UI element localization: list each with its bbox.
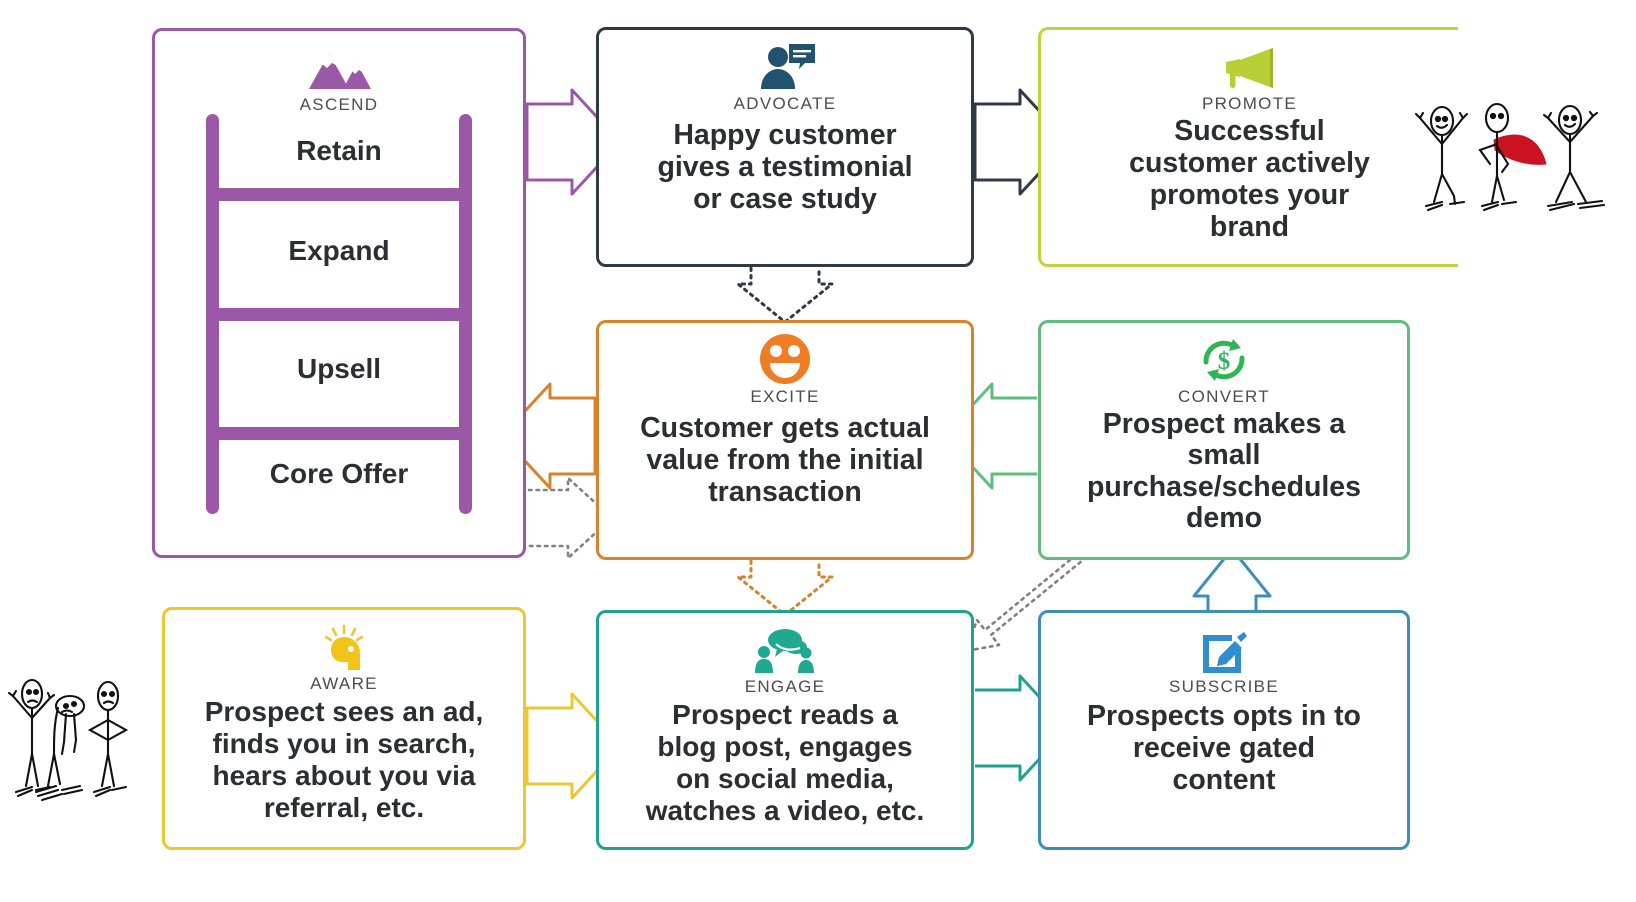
stage-label-promote: PROMOTE <box>1202 94 1297 114</box>
megaphone-icon <box>1218 30 1282 92</box>
node-aware-text: Prospect sees an ad, finds you in search… <box>195 696 494 824</box>
arrow-excite-to-engage <box>738 561 832 615</box>
stage-label-advocate: ADVOCATE <box>734 94 837 114</box>
arrow-advocate-to-excite <box>738 268 832 322</box>
svg-text:$: $ <box>1218 348 1231 375</box>
stage-label-engage: ENGAGE <box>745 677 826 697</box>
aware-stick-figures <box>4 668 152 828</box>
node-convert[interactable]: $ CONVERT Prospect makes a small purchas… <box>1038 320 1410 560</box>
node-subscribe[interactable]: SUBSCRIBE Prospects opts in to receive g… <box>1038 610 1410 850</box>
mountains-icon <box>305 31 373 93</box>
promote-stick-figures <box>1398 92 1630 220</box>
node-promote-text: Successful customer actively promotes yo… <box>1119 116 1380 244</box>
node-engage-text: Prospect reads a blog post, engages on s… <box>636 699 935 827</box>
stage-label-convert: CONVERT <box>1178 387 1270 407</box>
smiley-face-icon <box>759 323 811 385</box>
stage-label-subscribe: SUBSCRIBE <box>1169 677 1279 697</box>
node-promote[interactable]: PROMOTE Successful customer actively pro… <box>1038 27 1458 267</box>
person-speech-bubble-icon <box>753 30 817 92</box>
stage-label-aware: AWARE <box>310 674 378 694</box>
node-subscribe-text: Prospects opts in to receive gated conte… <box>1077 701 1371 797</box>
lightbulb-head-icon <box>318 610 370 672</box>
node-excite[interactable]: EXCITE Customer gets actual value from t… <box>596 320 974 560</box>
stage-label-ascend: ASCEND <box>300 95 379 115</box>
stage-label-excite: EXCITE <box>750 387 819 407</box>
two-people-chat-icon <box>751 613 819 675</box>
dollar-refresh-icon: $ <box>1197 323 1251 385</box>
node-advocate-text: Happy customer gives a testimonial or ca… <box>647 120 922 216</box>
node-ascend[interactable]: ASCEND <box>152 28 526 558</box>
diagram-canvas: ASCEND Retain Expand Upsell Core Offer A… <box>0 0 1636 902</box>
pencil-square-icon <box>1199 613 1249 675</box>
node-engage[interactable]: ENGAGE Prospect reads a blog post, engag… <box>596 610 974 850</box>
node-excite-text: Customer gets actual value from the init… <box>630 413 940 509</box>
node-aware[interactable]: AWARE Prospect sees an ad, finds you in … <box>162 607 526 850</box>
node-convert-text: Prospect makes a small purchase/schedule… <box>1077 409 1371 534</box>
node-advocate[interactable]: ADVOCATE Happy customer gives a testimon… <box>596 27 974 267</box>
